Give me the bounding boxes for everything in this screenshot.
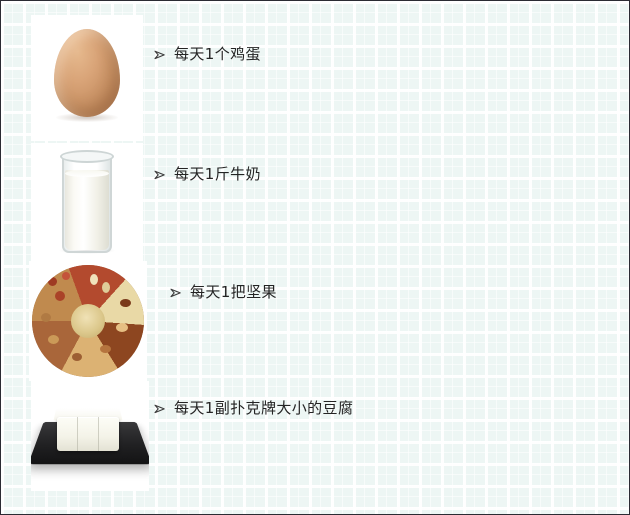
egg-body — [54, 29, 120, 117]
content-panel: 每天1个鸡蛋 — [0, 0, 630, 515]
tofu-seam — [77, 417, 78, 451]
food-label-egg: 每天1个鸡蛋 — [153, 45, 261, 63]
nut-speck — [120, 299, 131, 307]
mixed-nuts-photo — [29, 261, 147, 381]
tofu-on-plate-photo — [31, 381, 149, 491]
nuts-center-seeds — [71, 304, 105, 338]
nut-speck — [72, 353, 82, 361]
arrow-bullet-icon — [153, 401, 167, 415]
tofu-block — [57, 417, 119, 451]
nut-speck — [55, 291, 65, 301]
nut-speck — [102, 282, 110, 293]
nut-speck — [90, 274, 98, 285]
list-item: 每天1个鸡蛋 — [1, 15, 630, 141]
nut-speck — [62, 272, 70, 280]
tofu-seam — [98, 417, 99, 451]
nut-speck — [100, 345, 111, 353]
list-item: 每天1斤牛奶 — [1, 143, 630, 261]
nut-speck — [116, 323, 128, 332]
glass-rim — [60, 150, 114, 163]
egg-illustration — [31, 15, 143, 141]
milk-illustration — [31, 143, 143, 261]
food-label-text: 每天1副扑克牌大小的豆腐 — [174, 399, 353, 417]
food-label-tofu: 每天1副扑克牌大小的豆腐 — [153, 399, 353, 417]
arrow-bullet-icon — [153, 167, 167, 181]
tofu-illustration — [31, 381, 149, 491]
list-item: 每天1副扑克牌大小的豆腐 — [1, 381, 630, 491]
glass-body — [62, 153, 112, 253]
food-label-text: 每天1把坚果 — [190, 283, 277, 301]
milk-surface — [65, 170, 109, 177]
glass-of-milk-photo — [31, 143, 143, 261]
food-label-nuts: 每天1把坚果 — [169, 283, 277, 301]
milk-fill — [65, 170, 109, 250]
nut-speck — [41, 313, 51, 322]
nut-speck — [48, 277, 57, 286]
food-label-text: 每天1斤牛奶 — [174, 165, 261, 183]
arrow-bullet-icon — [169, 285, 183, 299]
arrow-bullet-icon — [153, 47, 167, 61]
nut-speck — [48, 335, 59, 344]
food-label-text: 每天1个鸡蛋 — [174, 45, 261, 63]
brown-egg-photo — [31, 15, 143, 141]
list-item: 每天1把坚果 — [1, 261, 630, 381]
nuts-illustration — [29, 261, 147, 381]
food-label-milk: 每天1斤牛奶 — [153, 165, 261, 183]
nuts-disc — [32, 265, 144, 377]
